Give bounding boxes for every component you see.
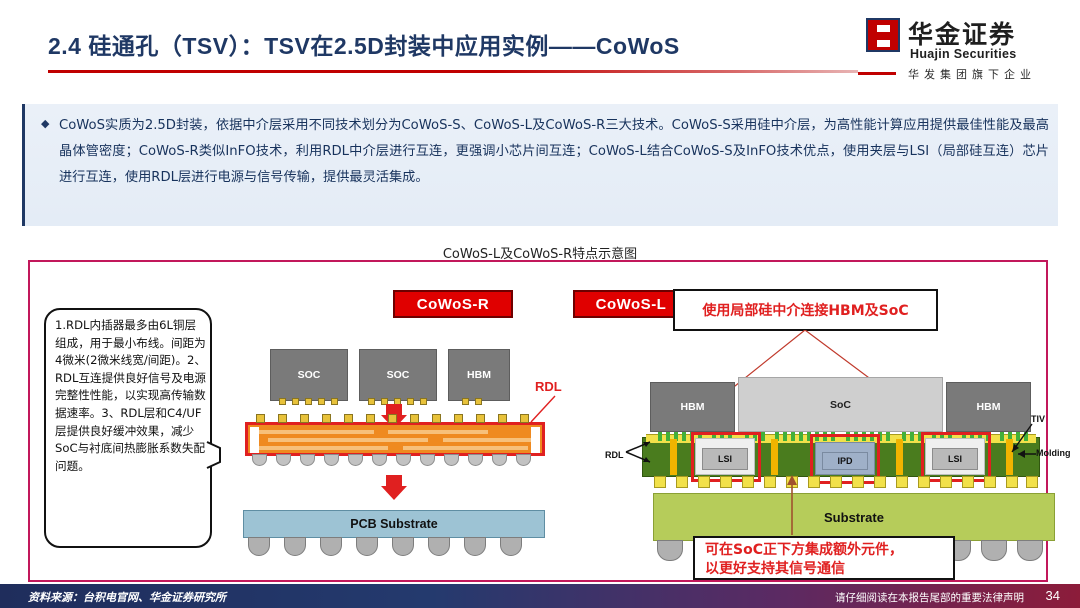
cowos-r-interposer-top-bumps xyxy=(256,414,529,423)
callout-bottom-line-2: 以更好支持其信号通信 xyxy=(705,560,953,579)
callout-bottom-line-1: 可在SoC正下方集成额外元件， xyxy=(705,541,953,560)
cowos-l-die-soc: SoC xyxy=(738,377,943,432)
cowos-r-die-soc-2: SOC xyxy=(359,349,437,401)
summary-paragraph: CoWoS实质为2.5D封装，依据中介层采用不同技术划分为CoWoS-S、CoW… xyxy=(59,113,1049,191)
cowos-l-tiv-2 xyxy=(771,439,778,475)
cowos-l-tiv-3 xyxy=(896,439,903,475)
logo-company-name-en: Huajin Securities xyxy=(910,47,1017,61)
highlight-lsi-right xyxy=(921,432,991,482)
rdl-leader-line-icon xyxy=(527,394,557,424)
huajin-logo-icon xyxy=(866,18,900,52)
logo-company-name-cn: 华金证券 xyxy=(908,15,1016,51)
molding-leader-icon xyxy=(1016,446,1038,462)
rdl-notes-text: 1.RDL内插器最多由6L铜层组成，用于最小布线。间距为4微米(2微米线宽/间距… xyxy=(55,317,207,475)
logo-dash xyxy=(858,72,896,75)
footer-source-text: 资料来源：台积电官网、华金证券研究所 xyxy=(28,589,226,605)
cowos-r-die-soc-1: SOC xyxy=(270,349,348,401)
cowos-r-die-hbm: HBM xyxy=(448,349,510,401)
callout-top-silicon-bridge: 使用局部硅中介连接HBM及SoC xyxy=(673,289,938,331)
callout-bottom-extra-components: 可在SoC正下方集成额外元件， 以更好支持其信号通信 xyxy=(693,536,955,580)
label-chip-cowos-r: CoWoS-R xyxy=(393,290,513,318)
slide-header: 2.4 硅通孔（TSV）：TSV在2.5D封装中应用实例——CoWoS 华金证券… xyxy=(0,0,1080,92)
cowos-l-substrate: Substrate xyxy=(653,493,1055,541)
cowos-l-c4-row xyxy=(648,476,1040,490)
cowos-r-bumps-hbm xyxy=(462,398,482,405)
rdl-notes-callout: 1.RDL内插器最多由6L铜层组成，用于最小布线。间距为4微米(2微米线宽/间距… xyxy=(44,308,212,548)
label-rdl-left: RDL xyxy=(605,450,624,460)
title-underline-rule xyxy=(48,70,858,73)
cowos-r-rdl-interposer xyxy=(245,422,545,456)
logo-tagline: 华发集团旗下企业 xyxy=(908,66,1036,82)
label-chip-cowos-l: CoWoS-L xyxy=(573,290,689,318)
summary-callout-box: ◆ CoWoS实质为2.5D封装，依据中介层采用不同技术划分为CoWoS-S、C… xyxy=(22,104,1058,226)
page-title: 2.4 硅通孔（TSV）：TSV在2.5D封装中应用实例——CoWoS xyxy=(48,27,680,61)
cowos-l-tiv-1 xyxy=(670,439,677,475)
callout-tail-icon xyxy=(206,440,232,470)
bullet-diamond-icon: ◆ xyxy=(41,117,49,130)
brand-logo: 华金证券 Huajin Securities 华发集团旗下企业 xyxy=(866,16,1066,82)
footer-legal-notice: 请仔细阅读在本报告尾部的重要法律声明 xyxy=(835,590,1024,605)
rdl-left-leader-icon xyxy=(624,438,654,468)
cowos-l-die-hbm-left: HBM xyxy=(650,382,735,432)
cowos-r-bumps-soc-1 xyxy=(279,398,338,405)
label-molding: Molding xyxy=(1036,448,1071,458)
footer-page-number: 34 xyxy=(1046,588,1060,603)
highlight-lsi-left xyxy=(691,432,761,482)
cowos-r-pcb-substrate: PCB Substrate xyxy=(243,510,545,538)
callout-bottom-leader-icon xyxy=(785,475,799,537)
slide-footer: 资料来源：台积电官网、华金证券研究所 请仔细阅读在本报告尾部的重要法律声明 34 xyxy=(0,584,1080,608)
figure-frame: 1.RDL内插器最多由6L铜层组成，用于最小布线。间距为4微米(2微米线宽/间距… xyxy=(28,260,1048,582)
rdl-annotation-label: RDL xyxy=(535,379,562,394)
